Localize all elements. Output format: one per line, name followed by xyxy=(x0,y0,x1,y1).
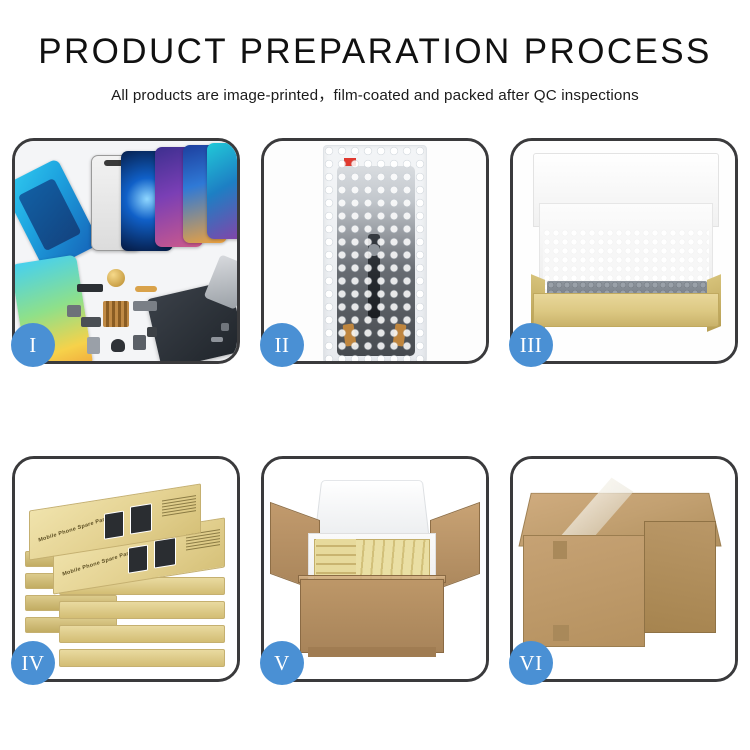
step-badge-3: III xyxy=(509,323,553,367)
box-art-screen-icon xyxy=(130,503,152,534)
step-2-image xyxy=(264,141,486,361)
process-step-panel-5: V xyxy=(261,456,489,682)
camera-module-icon xyxy=(368,244,380,256)
carton-front-icon xyxy=(523,535,645,647)
component-icon xyxy=(87,337,100,354)
speaker-icon xyxy=(111,339,125,352)
step-1-image xyxy=(15,141,237,361)
red-label-icon xyxy=(344,158,356,166)
flex-cable-icon xyxy=(135,286,157,292)
component-icon xyxy=(147,327,157,337)
process-step-panel-4: Mobile Phone Spare Parts Mobile Phone Sp… xyxy=(12,456,240,682)
connector-grid-icon xyxy=(103,301,129,327)
carton-seam-icon xyxy=(553,541,567,559)
adhesive-film-icon xyxy=(15,158,100,272)
process-step-grid: I II xyxy=(12,138,738,683)
component-icon xyxy=(133,301,157,311)
home-button-icon xyxy=(107,269,125,287)
retail-box-label: Mobile Phone Spare Parts xyxy=(38,515,111,543)
process-step-panel-1: I xyxy=(12,138,240,364)
product-preparation-page: PRODUCT PREPARATION PROCESS All products… xyxy=(0,0,750,750)
foam-lid-icon xyxy=(314,480,429,538)
carton-base-icon xyxy=(308,647,436,657)
page-subtitle: All products are image-printed，film-coat… xyxy=(0,83,750,105)
step-6-image xyxy=(513,459,735,679)
step-badge-1: I xyxy=(11,323,55,367)
step-badge-5: V xyxy=(260,641,304,685)
box-front-panel-icon xyxy=(533,293,719,327)
step-badge-4: IV xyxy=(11,641,55,685)
carton-body-icon xyxy=(300,579,444,653)
component-icon xyxy=(77,284,103,292)
phone-display-teal-icon xyxy=(207,143,237,239)
component-icon xyxy=(67,305,81,317)
retail-box-edge xyxy=(59,601,225,619)
retail-box-edge xyxy=(59,625,225,643)
step-3-image xyxy=(513,141,735,361)
box-art-screen-icon xyxy=(154,537,176,568)
screw-icon xyxy=(221,323,229,331)
box-art-screen-icon xyxy=(104,511,124,540)
step-badge-2: II xyxy=(260,323,304,367)
component-icon xyxy=(133,335,146,350)
component-icon xyxy=(81,317,101,327)
page-title: PRODUCT PREPARATION PROCESS xyxy=(0,34,750,71)
box-spec-lines xyxy=(162,495,196,518)
step-4-image: Mobile Phone Spare Parts Mobile Phone Sp… xyxy=(15,459,237,679)
carton-seam-icon xyxy=(553,625,569,641)
process-step-panel-3: III xyxy=(510,138,738,364)
retail-box-stack: Mobile Phone Spare Parts Mobile Phone Sp… xyxy=(23,473,235,671)
step-badge-6: VI xyxy=(509,641,553,685)
page-header: PRODUCT PREPARATION PROCESS All products… xyxy=(0,0,750,105)
bubble-wrap-bag-icon xyxy=(323,145,427,361)
carton-side-icon xyxy=(644,521,716,633)
box-art-screen-icon xyxy=(128,545,148,574)
process-step-panel-6: VI xyxy=(510,456,738,682)
step-5-image xyxy=(264,459,486,679)
retail-box-edge xyxy=(59,649,225,667)
screw-icon xyxy=(211,337,223,342)
process-step-panel-2: II xyxy=(261,138,489,364)
